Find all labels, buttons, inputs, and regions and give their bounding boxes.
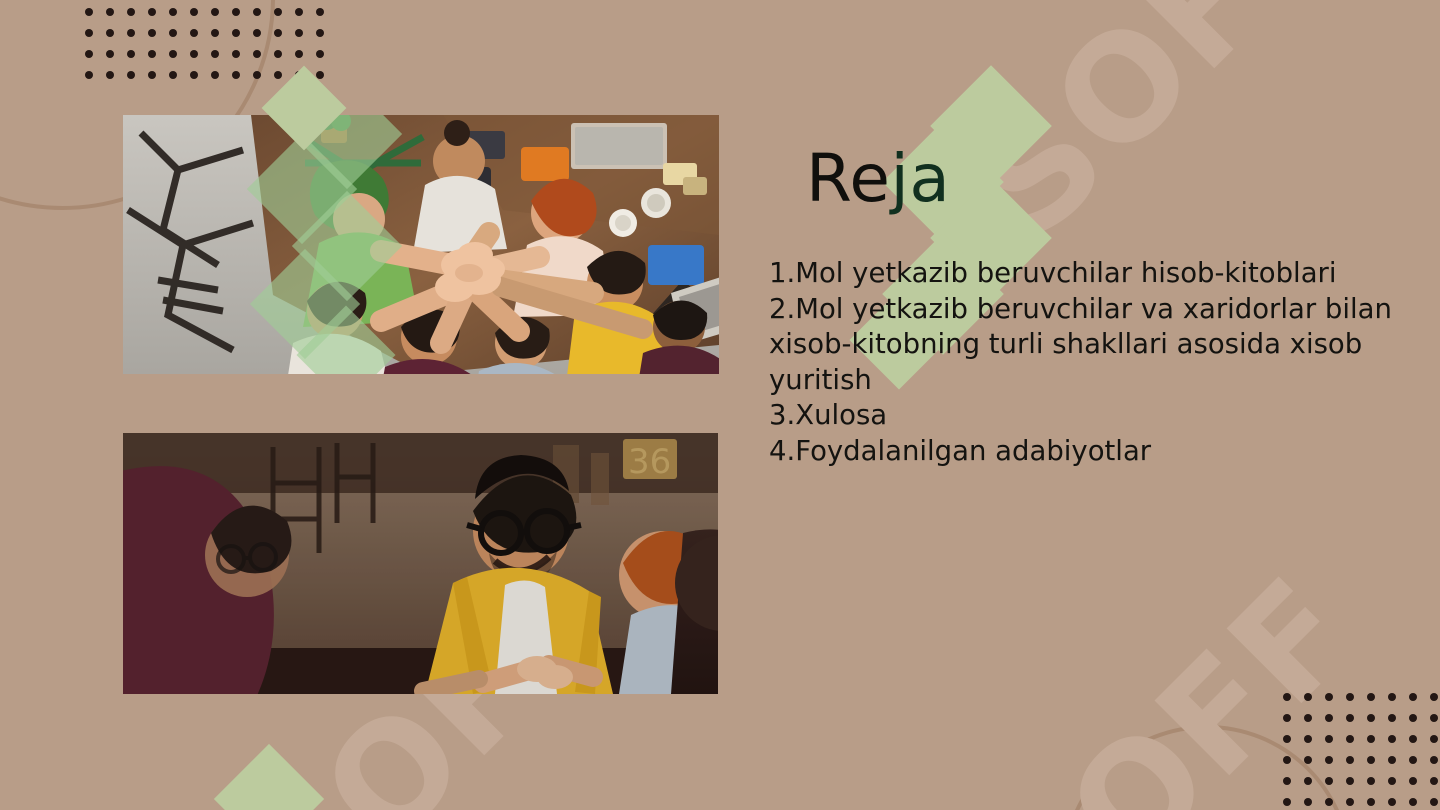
dot (148, 29, 156, 37)
page-title-part-a: Re (806, 140, 891, 217)
dot (127, 71, 135, 79)
dot (169, 71, 177, 79)
dot (1409, 756, 1417, 764)
dot (232, 29, 240, 37)
dot (211, 29, 219, 37)
agenda-line: 3.Xulosa (769, 398, 1419, 434)
dot (1430, 735, 1438, 743)
dot (1388, 693, 1396, 701)
agenda-line: 1.Mol yetkazib beruvchilar hisob-kitobla… (769, 256, 1419, 292)
dot (295, 8, 303, 16)
dot (1367, 735, 1375, 743)
dot (1409, 693, 1417, 701)
dot (274, 50, 282, 58)
dot (169, 8, 177, 16)
dot (1367, 777, 1375, 785)
dot (1283, 693, 1291, 701)
dot (211, 50, 219, 58)
dot (1325, 756, 1333, 764)
dot (1325, 735, 1333, 743)
dot (1283, 777, 1291, 785)
watermark-soff-top-right: SOFF (945, 0, 1374, 268)
dot (85, 8, 93, 16)
dot (316, 71, 324, 79)
dot (1346, 693, 1354, 701)
dot (1409, 714, 1417, 722)
dot (232, 50, 240, 58)
dot (211, 8, 219, 16)
dot (1283, 714, 1291, 722)
dot (148, 8, 156, 16)
dot (1388, 798, 1396, 806)
dot (253, 8, 261, 16)
dot (1304, 693, 1312, 701)
dot (106, 8, 114, 16)
dot (232, 71, 240, 79)
dot (127, 8, 135, 16)
dot (1367, 714, 1375, 722)
dot (1430, 756, 1438, 764)
dot (1283, 756, 1291, 764)
dot (1388, 714, 1396, 722)
agenda-list: 1.Mol yetkazib beruvchilar hisob-kitobla… (769, 256, 1419, 469)
dot (1346, 714, 1354, 722)
dot (190, 50, 198, 58)
dot (1346, 777, 1354, 785)
dot (1304, 798, 1312, 806)
dot (85, 71, 93, 79)
dot (274, 8, 282, 16)
dot (295, 50, 303, 58)
dot (1304, 714, 1312, 722)
dot (1304, 777, 1312, 785)
dot (106, 71, 114, 79)
dot (253, 71, 261, 79)
dot (190, 29, 198, 37)
dot (274, 71, 282, 79)
agenda-line: 2.Mol yetkazib beruvchilar va xaridorlar… (769, 292, 1419, 328)
team-high-five-photo (123, 115, 719, 374)
dot (1388, 735, 1396, 743)
dot (106, 50, 114, 58)
dot (253, 50, 261, 58)
dot (1367, 756, 1375, 764)
dot (1304, 756, 1312, 764)
dot (148, 50, 156, 58)
dot (106, 29, 114, 37)
dot (1325, 714, 1333, 722)
agenda-line: 4.Foydalanilgan adabiyotlar (769, 434, 1419, 470)
dot (85, 29, 93, 37)
decorative-dot-grid-top-left (85, 8, 337, 92)
dot (316, 50, 324, 58)
dot (1346, 735, 1354, 743)
dot (85, 50, 93, 58)
dot (253, 29, 261, 37)
dot (169, 29, 177, 37)
dot (190, 8, 198, 16)
dot (274, 29, 282, 37)
dot (1430, 693, 1438, 701)
dot (1283, 798, 1291, 806)
soff-s-logo-icon-small (218, 752, 328, 810)
dot (1388, 756, 1396, 764)
dot (1325, 693, 1333, 701)
presentation-slide: SOFF SOFF SOFF (0, 0, 1440, 810)
dot (1430, 798, 1438, 806)
dot (127, 50, 135, 58)
dot (1409, 798, 1417, 806)
dot (190, 71, 198, 79)
dot (1367, 693, 1375, 701)
dot (232, 8, 240, 16)
dot (1283, 735, 1291, 743)
dot (1388, 777, 1396, 785)
dot (1325, 777, 1333, 785)
dot (316, 8, 324, 16)
dot (1430, 777, 1438, 785)
dot (1367, 798, 1375, 806)
agenda-line: xisob-kitobning turli shakllari asosida … (769, 327, 1419, 363)
dot (211, 71, 219, 79)
page-title-part-b: ja (891, 140, 951, 217)
dot (127, 29, 135, 37)
dot (316, 29, 324, 37)
dot (1409, 735, 1417, 743)
dot (148, 71, 156, 79)
dot (1409, 777, 1417, 785)
dot (1346, 798, 1354, 806)
dot (295, 29, 303, 37)
dot (295, 71, 303, 79)
agenda-line: yuritish (769, 363, 1419, 399)
page-title: Reja (806, 146, 950, 212)
dot (1325, 798, 1333, 806)
dot (1430, 714, 1438, 722)
dot (1346, 756, 1354, 764)
dot (169, 50, 177, 58)
team-meeting-photo: 36 (123, 433, 718, 694)
dot (1304, 735, 1312, 743)
decorative-dot-grid-bottom-right (1283, 693, 1440, 810)
